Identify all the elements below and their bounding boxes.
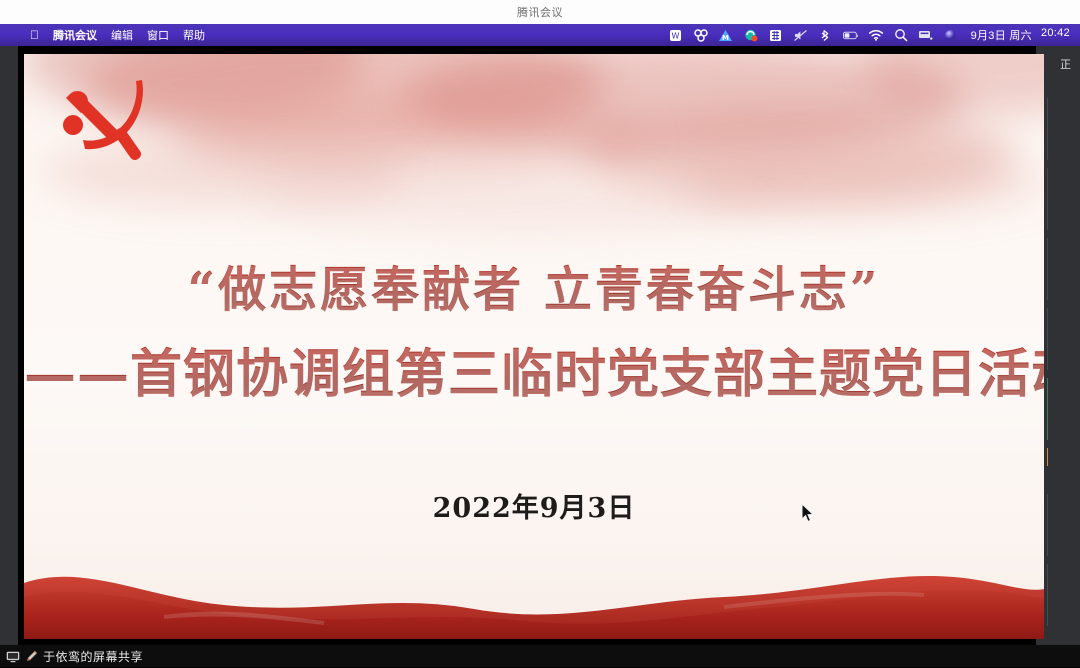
- tencent-lemon-icon[interactable]: [743, 28, 759, 43]
- screen-share-label: 于依鸾的屏幕共享: [43, 648, 143, 665]
- menu-item-help[interactable]: 帮助: [183, 27, 205, 43]
- macos-menubar:  腾讯会议 编辑 窗口 帮助 W M: [0, 24, 1080, 46]
- window-title: 腾讯会议: [517, 4, 563, 20]
- menubar-status-group: W M: [668, 27, 1080, 43]
- siri-icon[interactable]: [943, 28, 959, 43]
- clock-date: 9月3日 周六: [971, 27, 1032, 43]
- window-titlebar: 腾讯会议: [0, 0, 1080, 24]
- control-center-icon[interactable]: [918, 28, 934, 43]
- volume-muted-icon[interactable]: [793, 28, 809, 43]
- svg-text:M: M: [722, 34, 729, 42]
- meeting-app-body: 正: [0, 46, 1080, 667]
- svg-text:W: W: [672, 31, 680, 40]
- clock-time: 20:42: [1041, 27, 1070, 43]
- left-rail: [0, 46, 18, 645]
- apple-logo-icon[interactable]: : [30, 29, 39, 41]
- menubar-left-group:  腾讯会议 编辑 窗口 帮助: [0, 27, 205, 43]
- menu-item-app[interactable]: 腾讯会议: [53, 27, 97, 43]
- slide-bottom-ribbon: [24, 519, 1044, 639]
- input-method-icon[interactable]: [768, 28, 784, 43]
- menu-item-window[interactable]: 窗口: [147, 27, 169, 43]
- slide-subtitle: ——首钢协调组第三临时党支部主题党日活动: [24, 332, 1044, 407]
- shared-screen-stage[interactable]: “做志愿奉献者 立青春奋斗志” ——首钢协调组第三临时党支部主题党日活动 202…: [18, 46, 1036, 645]
- wifi-icon[interactable]: [868, 28, 884, 43]
- presentation-slide: “做志愿奉献者 立青春奋斗志” ——首钢协调组第三临时党支部主题党日活动 202…: [24, 54, 1044, 639]
- menubar-clock[interactable]: 9月3日 周六 20:42: [968, 27, 1070, 43]
- annotate-pen-icon[interactable]: [25, 650, 38, 663]
- spotlight-search-icon[interactable]: [893, 28, 909, 43]
- battery-icon[interactable]: [843, 28, 859, 43]
- screen-share-status-bar: 于依鸾的屏幕共享: [0, 645, 1080, 667]
- mountain-m-icon[interactable]: M: [718, 28, 734, 43]
- bluetooth-icon[interactable]: [818, 28, 834, 43]
- screen-share-icon: [6, 650, 20, 662]
- menu-item-edit[interactable]: 编辑: [111, 27, 133, 43]
- slide-main-title: “做志愿奉献者 立青春奋斗志”: [24, 250, 1044, 320]
- wps-icon[interactable]: W: [668, 28, 684, 43]
- clover-icon[interactable]: [693, 28, 709, 43]
- participant-name-label: 正: [1060, 56, 1071, 72]
